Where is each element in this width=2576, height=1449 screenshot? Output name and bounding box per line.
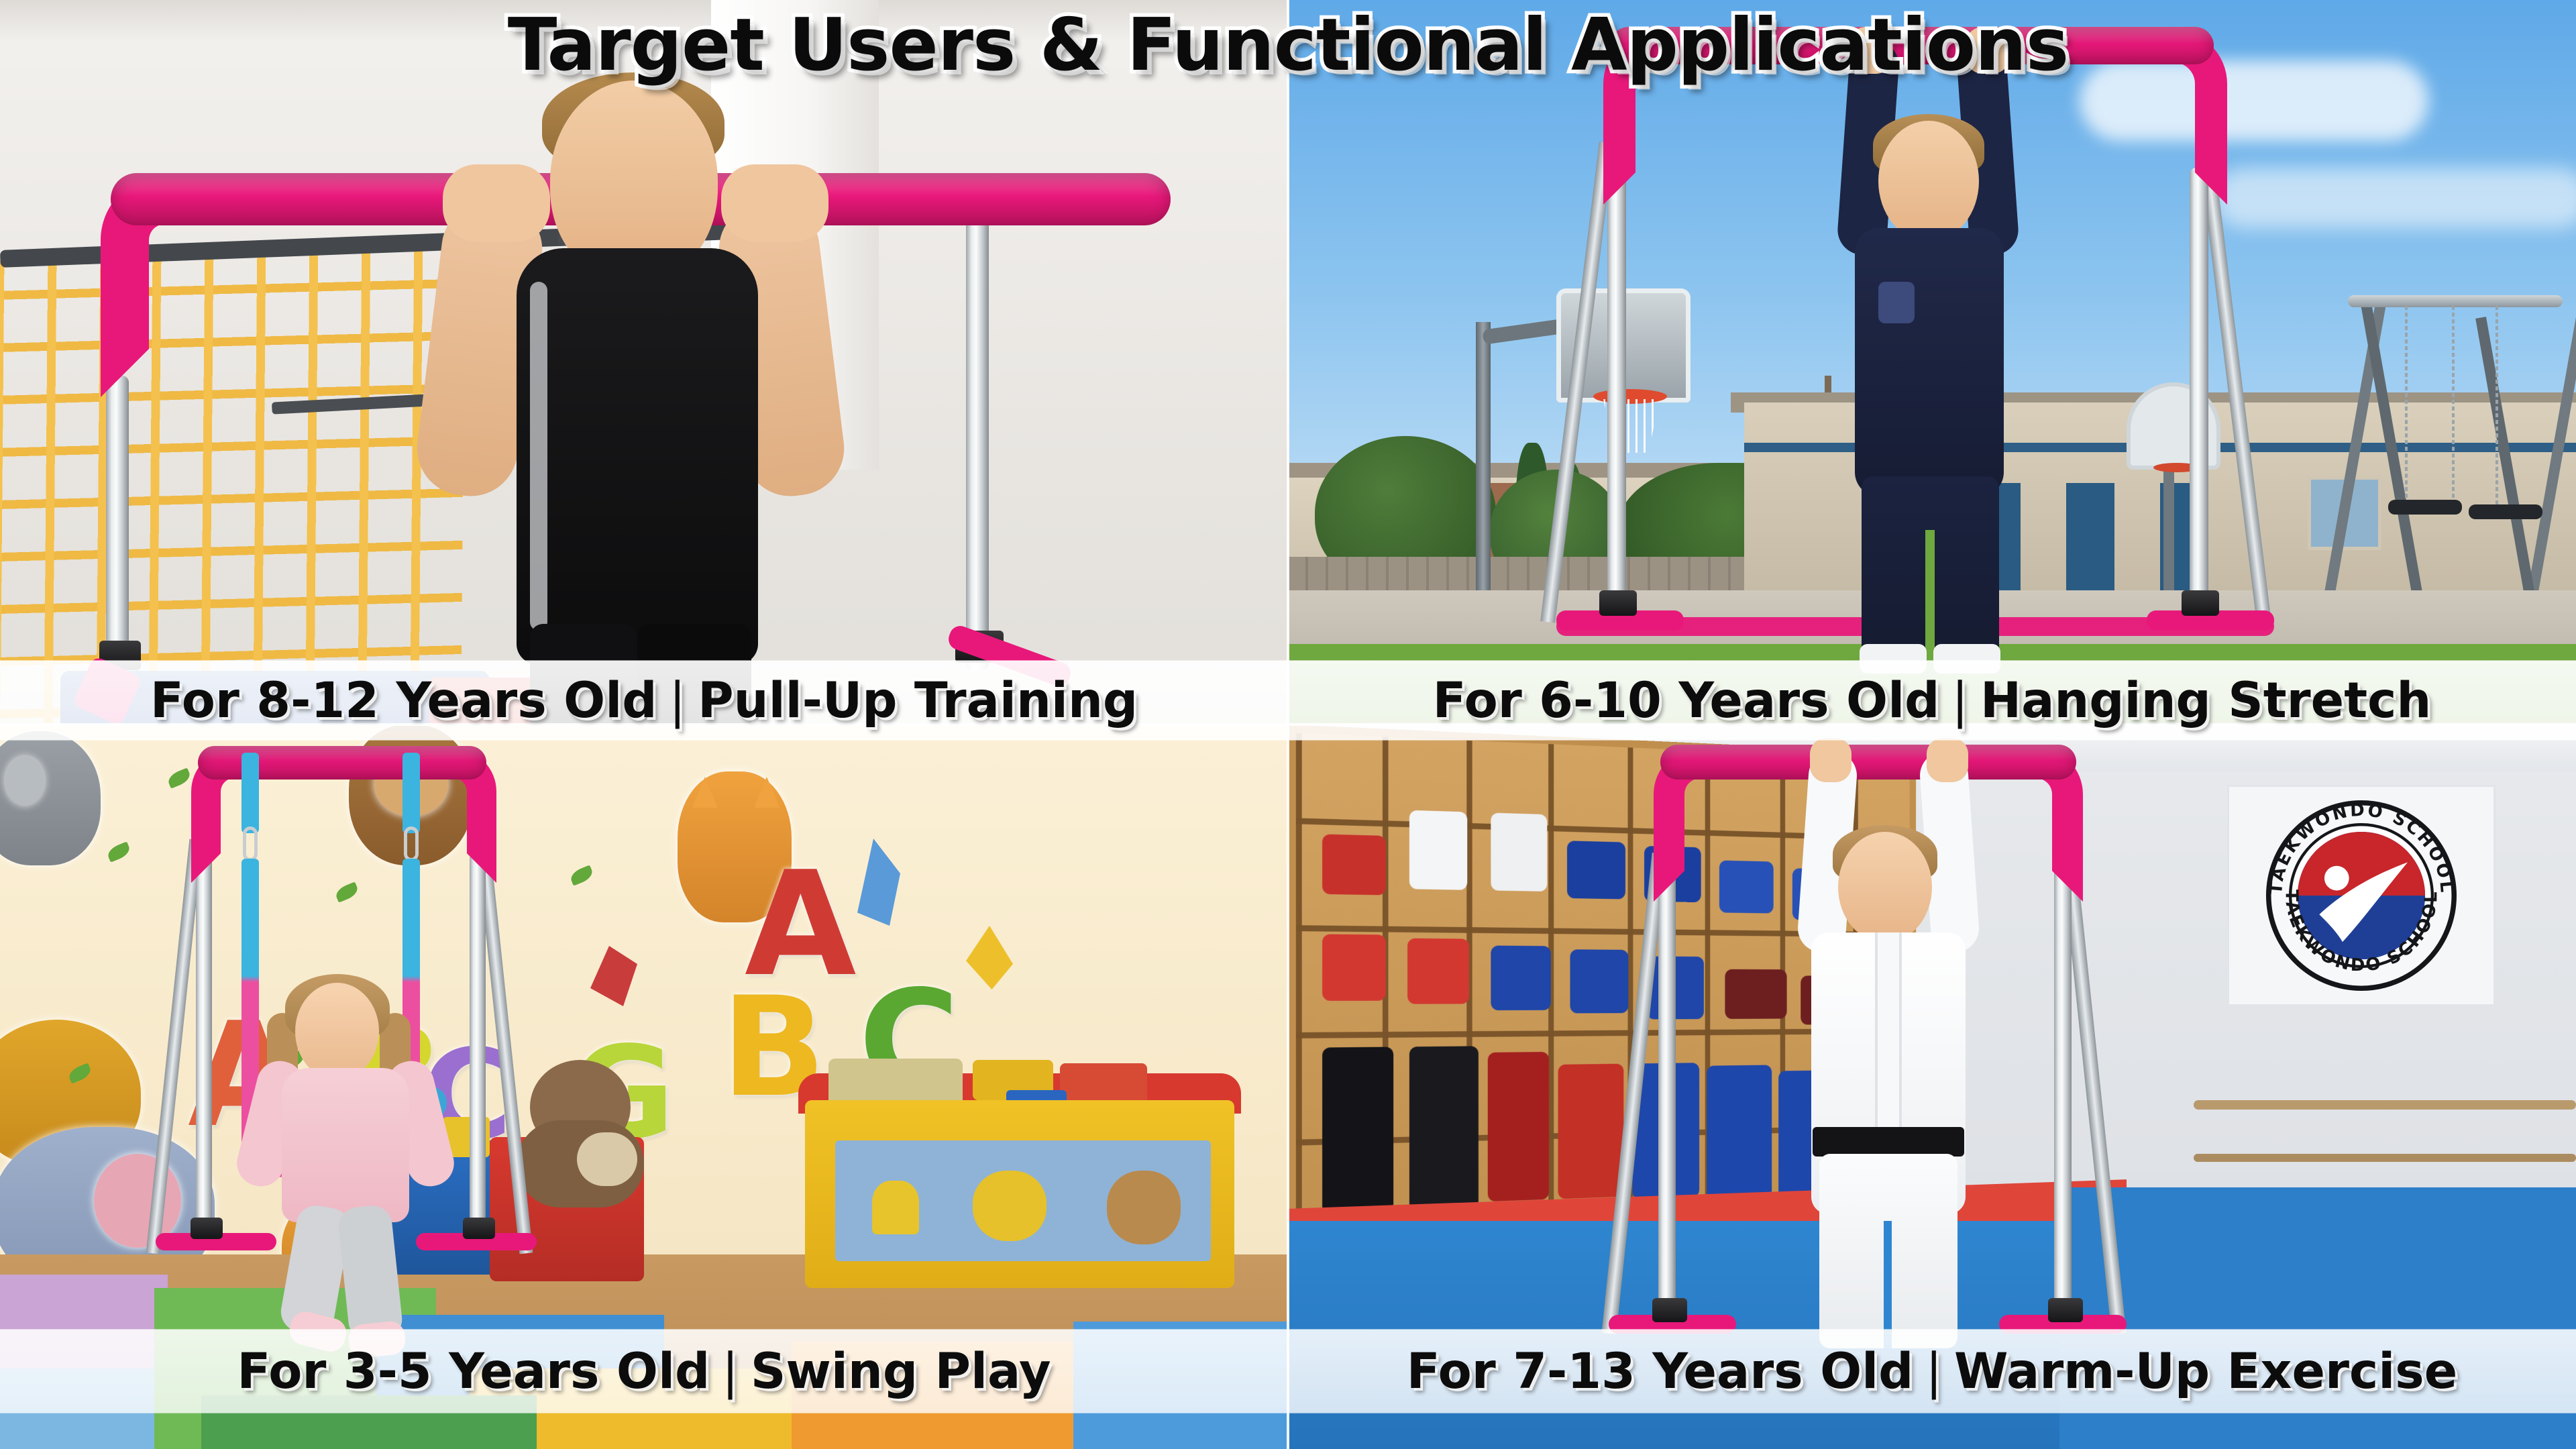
climbing-net-icon [0, 249, 465, 724]
toy-chest-decal-cherry [872, 1181, 919, 1234]
headgear-red-4 [1407, 938, 1469, 1004]
plush-toy [577, 1132, 637, 1186]
boy-head [1878, 121, 1979, 241]
caption-text-bottom-right: For 7-13 Years Old|Warm-Up Exercise [1407, 1347, 2458, 1396]
caption-activity-top-right: Hanging Stretch [1980, 672, 2431, 729]
page-title: Target Users & Functional Applications [508, 9, 2068, 82]
black-belt [1813, 1127, 1964, 1157]
caption-activity-top-left: Pull-Up Training [698, 672, 1138, 729]
boy-hand-right [721, 164, 828, 241]
caption-age-bottom-left: For 3-5 Years Old [237, 1343, 710, 1400]
toy-chest-decal-bear [1107, 1171, 1181, 1244]
jacket-crest [1878, 282, 1915, 323]
leg-clamp-left [1652, 1298, 1687, 1322]
leg-clamp-right [2048, 1298, 2083, 1322]
ballet-barre-2 [2194, 1154, 2576, 1162]
swing-seat-2 [2469, 504, 2542, 519]
swing-chain [2405, 306, 2408, 507]
gear-bag [1322, 1047, 1393, 1215]
girl-head [295, 983, 379, 1080]
bar-leg-left [1607, 168, 1626, 631]
boy-leg-gap [1925, 530, 1935, 657]
headgear-blue [1567, 841, 1625, 899]
caption-text-top-left: For 8-12 Years Old|Pull-Up Training [150, 676, 1138, 725]
bar-leg-right [966, 201, 989, 671]
girl-pink-hoodie [282, 1068, 409, 1222]
swing-strap-top-right [402, 753, 420, 833]
gear-bag-2 [1409, 1046, 1479, 1211]
bar-leg-left [1658, 865, 1676, 1328]
headgear-red-3 [1322, 934, 1386, 1001]
swing-seat [2388, 500, 2462, 515]
toy-chest-decal-mouse [973, 1171, 1046, 1241]
boy-hand-right [1927, 738, 1968, 782]
caption-activity-bottom-left: Swing Play [751, 1343, 1051, 1400]
headgear-red [1322, 834, 1386, 895]
leg-clamp-right [2182, 590, 2219, 616]
caption-hanging-stretch: For 6-10 Years Old|Hanging Stretch [1288, 661, 2576, 740]
bar-leg-right [470, 852, 486, 1248]
boy-hand-left [443, 164, 550, 241]
koala-ear-icon [5, 757, 44, 805]
caption-separator-top-right: | [1951, 676, 1968, 725]
caption-warm-up-exercise: For 7-13 Years Old|Warm-Up Exercise [1288, 1330, 2576, 1413]
swing-chain-2 [2452, 306, 2455, 507]
caption-separator-top-left: | [669, 676, 686, 725]
swing-strap-top-left [241, 753, 259, 833]
scene-indoor-gym [0, 0, 1288, 724]
bar-leg-left [106, 376, 129, 671]
ballet-barre [2194, 1100, 2576, 1110]
swing-set-top-rail [2348, 295, 2563, 307]
shin-guards [1725, 969, 1786, 1019]
caption-activity-bottom-right: Warm-Up Exercise [1954, 1343, 2457, 1400]
bar-leg-right [2054, 865, 2072, 1328]
headgear-blue-5 [1491, 945, 1550, 1010]
leg-clamp-left [191, 1218, 223, 1239]
foot-protector-white [1409, 810, 1467, 890]
school-door-2 [2066, 483, 2114, 590]
product-collage: A B C G A B C [0, 0, 2576, 1449]
title-banner: Target Users & Functional Applications [0, 0, 2576, 91]
caption-separator-bottom-left: | [722, 1347, 739, 1396]
bar-leg-left [196, 852, 212, 1248]
foot-protector-white-2 [1491, 813, 1547, 892]
boy-tank-stripe [530, 282, 547, 631]
caption-age-bottom-right: For 7-13 Years Old [1407, 1343, 1914, 1400]
cloud-2 [2214, 168, 2576, 228]
boy-torso-tank-top [517, 248, 758, 664]
caption-age-top-right: For 6-10 Years Old [1433, 672, 1940, 729]
boy-head [1838, 832, 1932, 943]
swing-chain-3 [2495, 306, 2498, 507]
taekwondo-logo-icon: TAEKWONDO SCHOOL TAEKWONDO SCHOOL [2229, 787, 2493, 1004]
panel-pull-up-training [0, 0, 1288, 724]
gear-bag-red [1488, 1052, 1549, 1201]
caption-pull-up-training: For 8-12 Years Old|Pull-Up Training [0, 661, 1288, 740]
dobok-lapel [1875, 932, 1902, 1134]
caption-text-top-right: For 6-10 Years Old|Hanging Stretch [1433, 676, 2432, 725]
caption-text-bottom-left: For 3-5 Years Old|Swing Play [237, 1347, 1051, 1396]
panel-hanging-stretch [1288, 0, 2576, 724]
swing-carabiner-left [243, 826, 258, 861]
leg-clamp-right [463, 1218, 495, 1239]
caption-age-top-left: For 8-12 Years Old [150, 672, 657, 729]
headgear-blue-6 [1570, 949, 1628, 1013]
caption-separator-bottom-right: | [1925, 1347, 1942, 1396]
bar-leg-right [2190, 168, 2208, 631]
boy-hand-left [1810, 738, 1851, 782]
swing-carabiner-right [404, 826, 419, 861]
caption-swing-play: For 3-5 Years Old|Swing Play [0, 1330, 1288, 1413]
chest-protector-red [1558, 1064, 1624, 1199]
taekwondo-school-sign: TAEKWONDO SCHOOL TAEKWONDO SCHOOL [2227, 785, 2495, 1006]
scene-outdoor-schoolyard [1288, 0, 2576, 724]
chest-protector-blue-2 [1707, 1065, 1772, 1199]
boy-tracksuit-jacket [1855, 228, 2004, 496]
pink-pull-up-bar [1660, 745, 2076, 780]
leg-clamp-left [1599, 590, 1637, 616]
